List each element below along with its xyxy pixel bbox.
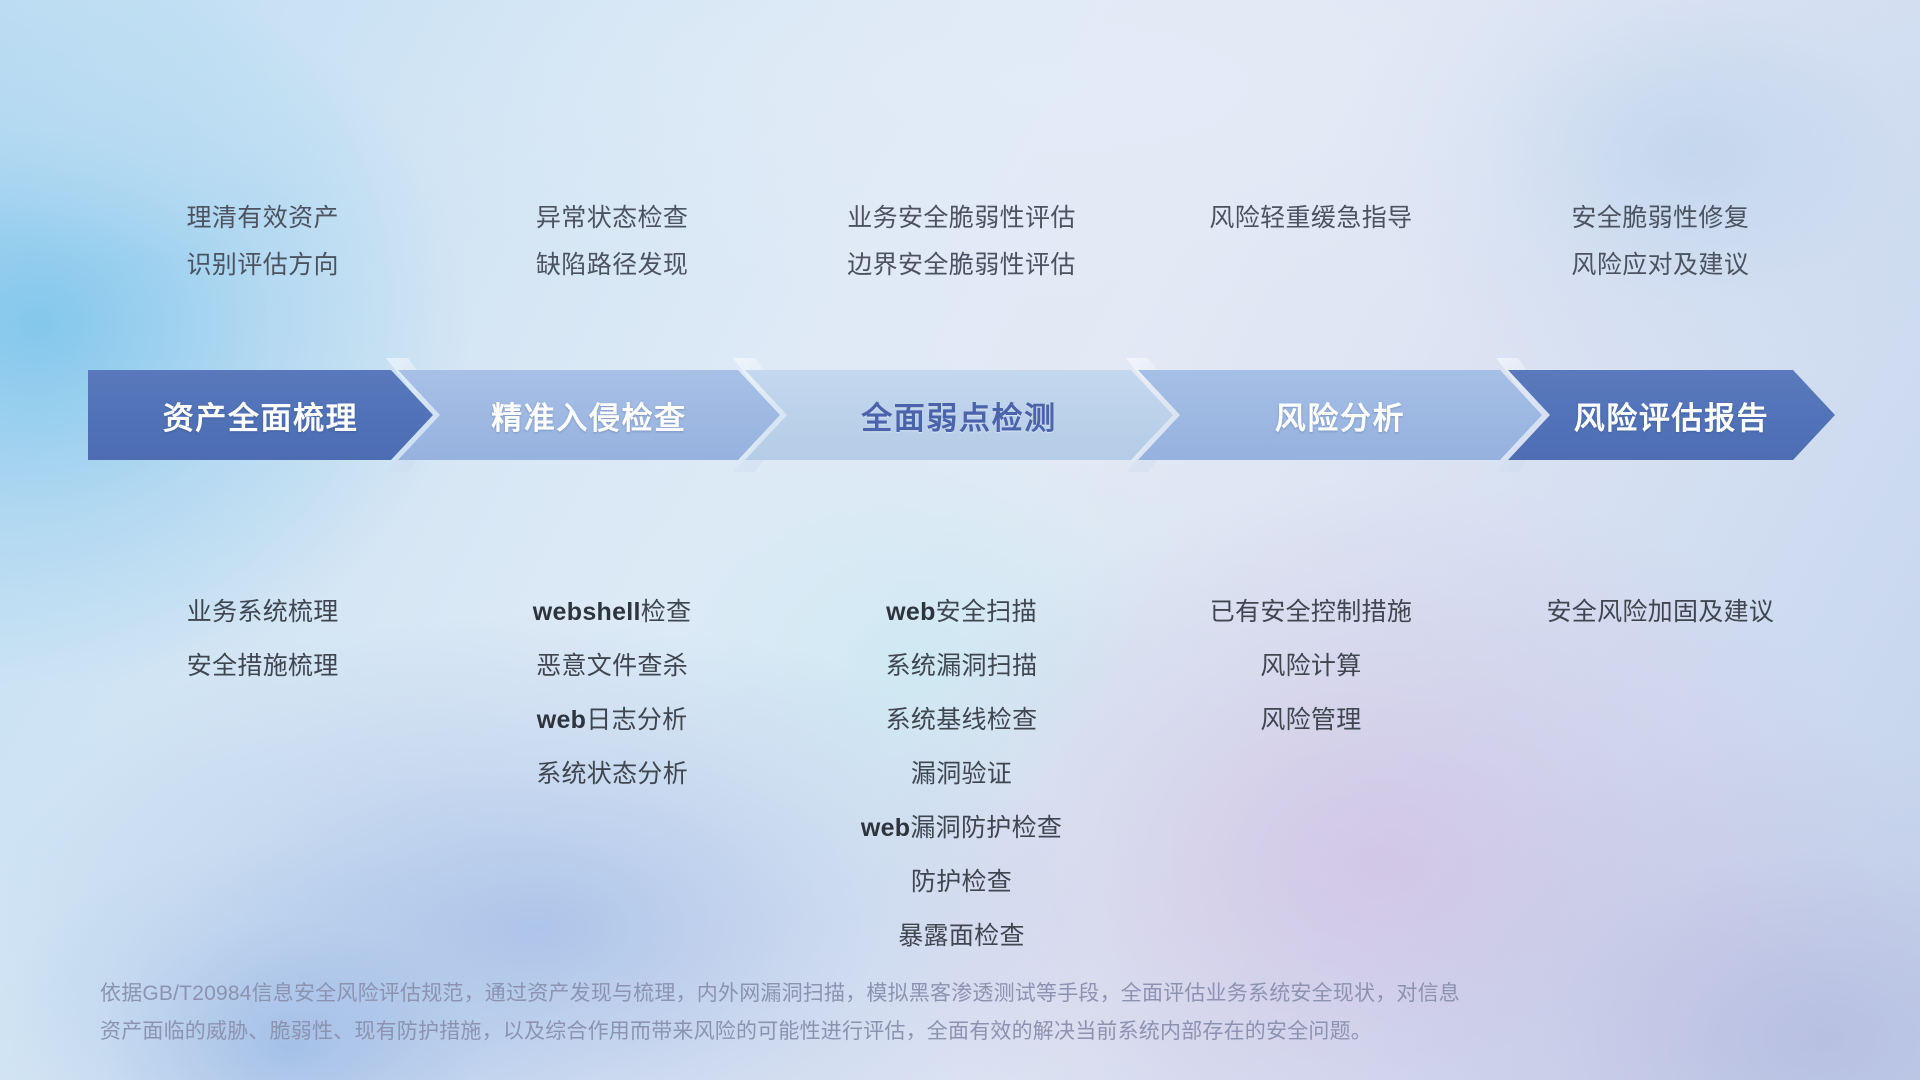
bottom-item-prefix: web bbox=[886, 598, 936, 626]
bottom-item-text: 暴露面检查 bbox=[898, 922, 1025, 950]
top-items-stage-4: 风险轻重缓急指导 bbox=[1136, 195, 1485, 289]
bottom-item: 系统状态分析 bbox=[536, 747, 688, 801]
bottom-item-text: 系统基线检查 bbox=[886, 706, 1038, 734]
top-items-stage-1: 理清有效资产 识别评估方向 bbox=[88, 195, 437, 289]
bottom-item-text: 风险计算 bbox=[1260, 652, 1361, 680]
chevron-stage-5-label: 风险评估报告 bbox=[1574, 393, 1770, 438]
bottom-item-text: 业务系统梳理 bbox=[187, 598, 339, 626]
bottom-item-text: 恶意文件查杀 bbox=[536, 652, 688, 680]
bottom-items-stage-2: webshell检查 恶意文件查杀 web日志分析 系统状态分析 bbox=[437, 585, 786, 801]
footer-line-1: 依据GB/T20984信息安全风险评估规范，通过资产发现与梳理，内外网漏洞扫描，… bbox=[100, 975, 1800, 1013]
bottom-item-text: 安全措施梳理 bbox=[187, 652, 339, 680]
chevron-stage-3[interactable]: 全面弱点检测 bbox=[745, 370, 1173, 460]
bottom-item-prefix: web bbox=[861, 814, 911, 842]
top-item: 识别评估方向 bbox=[187, 242, 339, 289]
bottom-item-text: 检查 bbox=[641, 598, 692, 626]
top-items-stage-2: 异常状态检查 缺陷路径发现 bbox=[437, 195, 786, 289]
footer-line-2: 资产面临的威胁、脆弱性、现有防护措施，以及综合作用而带来风险的可能性进行评估，全… bbox=[100, 1013, 1800, 1051]
bottom-item: web漏洞防护检查 bbox=[861, 801, 1062, 855]
top-item: 边界安全脆弱性评估 bbox=[847, 242, 1076, 289]
bottom-item: 已有安全控制措施 bbox=[1210, 585, 1412, 639]
bottom-items-row: 业务系统梳理 安全措施梳理 webshell检查 恶意文件查杀 web日志分析 … bbox=[88, 585, 1835, 963]
bottom-item: 安全风险加固及建议 bbox=[1546, 585, 1774, 639]
bottom-item-text: 日志分析 bbox=[586, 706, 687, 734]
bottom-item: 系统基线检查 bbox=[886, 693, 1038, 747]
bottom-item-prefix: webshell bbox=[533, 598, 641, 626]
top-item: 业务安全脆弱性评估 bbox=[847, 195, 1076, 242]
bottom-item-text: 防护检查 bbox=[911, 868, 1012, 896]
bottom-item: 系统漏洞扫描 bbox=[886, 639, 1038, 693]
top-item: 理清有效资产 bbox=[187, 195, 339, 242]
chevron-stage-1-label: 资产全面梳理 bbox=[163, 393, 359, 438]
bottom-item-text: 安全风险加固及建议 bbox=[1546, 598, 1774, 626]
bottom-item: 业务系统梳理 bbox=[187, 585, 339, 639]
bottom-item: 恶意文件查杀 bbox=[536, 639, 688, 693]
bottom-item: 风险管理 bbox=[1260, 693, 1361, 747]
top-item: 安全脆弱性修复 bbox=[1571, 195, 1749, 242]
chevron-stage-4-label: 风险分析 bbox=[1275, 393, 1405, 438]
bottom-item-text: 系统漏洞扫描 bbox=[886, 652, 1038, 680]
chevron-stage-3-label: 全面弱点检测 bbox=[861, 393, 1057, 438]
bottom-item: 防护检查 bbox=[911, 855, 1012, 909]
top-item: 风险轻重缓急指导 bbox=[1209, 195, 1412, 242]
chevron-stage-5[interactable]: 风险评估报告 bbox=[1508, 370, 1835, 460]
bottom-item-text: 漏洞验证 bbox=[911, 760, 1012, 788]
bottom-items-stage-3: web安全扫描 系统漏洞扫描 系统基线检查 漏洞验证 web漏洞防护检查 防护检… bbox=[787, 585, 1136, 963]
bottom-item: webshell检查 bbox=[533, 585, 692, 639]
bottom-item-text: 系统状态分析 bbox=[536, 760, 688, 788]
bottom-item-prefix: web bbox=[537, 706, 587, 734]
bottom-item: web安全扫描 bbox=[886, 585, 1037, 639]
bottom-item-text: 安全扫描 bbox=[936, 598, 1037, 626]
chevron-stage-1[interactable]: 资产全面梳理 bbox=[88, 370, 433, 460]
bottom-items-stage-5: 安全风险加固及建议 bbox=[1486, 585, 1835, 639]
bottom-item-text: 风险管理 bbox=[1260, 706, 1361, 734]
chevron-stage-2-label: 精准入侵检查 bbox=[491, 393, 687, 438]
footer-description: 依据GB/T20984信息安全风险评估规范，通过资产发现与梳理，内外网漏洞扫描，… bbox=[100, 975, 1800, 1051]
top-item: 风险应对及建议 bbox=[1571, 242, 1749, 289]
bottom-item-text: 已有安全控制措施 bbox=[1210, 598, 1412, 626]
top-item: 异常状态检查 bbox=[536, 195, 688, 242]
top-items-stage-5: 安全脆弱性修复 风险应对及建议 bbox=[1486, 195, 1835, 289]
bottom-item: web日志分析 bbox=[537, 693, 688, 747]
bottom-item: 漏洞验证 bbox=[911, 747, 1012, 801]
top-items-row: 理清有效资产 识别评估方向 异常状态检查 缺陷路径发现 业务安全脆弱性评估 边界… bbox=[88, 195, 1835, 289]
bottom-items-stage-1: 业务系统梳理 安全措施梳理 bbox=[88, 585, 437, 693]
top-items-stage-3: 业务安全脆弱性评估 边界安全脆弱性评估 bbox=[787, 195, 1136, 289]
stage-columns: 理清有效资产 识别评估方向 异常状态检查 缺陷路径发现 业务安全脆弱性评估 边界… bbox=[88, 0, 1835, 1080]
bottom-item: 暴露面检查 bbox=[898, 909, 1025, 963]
bottom-item: 安全措施梳理 bbox=[187, 639, 339, 693]
process-chevron-band: 资产全面梳理 精准入侵检查 全面弱点检测 风险分析 风险评估报告 bbox=[88, 370, 1835, 460]
bottom-item: 风险计算 bbox=[1260, 639, 1361, 693]
chevron-stage-4[interactable]: 风险分析 bbox=[1138, 370, 1542, 460]
top-item: 缺陷路径发现 bbox=[536, 242, 688, 289]
bottom-item-text: 漏洞防护检查 bbox=[910, 814, 1062, 842]
bottom-items-stage-4: 已有安全控制措施 风险计算 风险管理 bbox=[1136, 585, 1485, 747]
chevron-stage-2[interactable]: 精准入侵检查 bbox=[398, 370, 780, 460]
